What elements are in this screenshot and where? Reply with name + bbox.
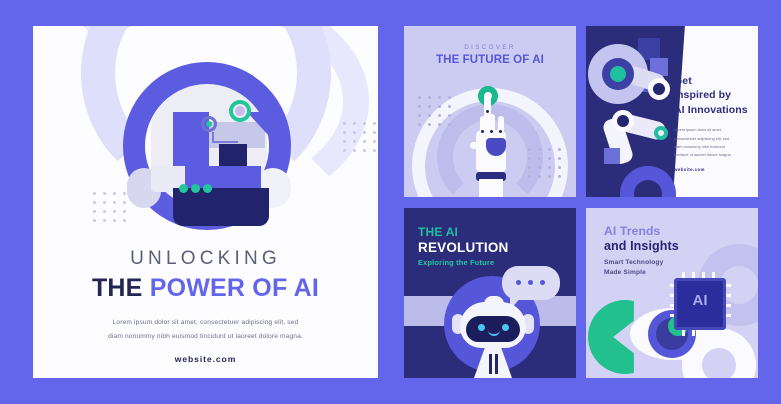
tr-body-line1: Lorem ipsum dolor sit amet, <box>674 126 752 134</box>
br-subtitle-line2: Made Simple <box>604 268 679 278</box>
robot-indicator-dot <box>203 184 212 193</box>
main-eyebrow: UNLOCKING <box>33 248 378 270</box>
tr-text-block: Get Inspired by AI Innovations Lorem ips… <box>674 74 752 172</box>
robot-circuit-line-h <box>212 141 238 143</box>
speech-bubble-dot <box>516 280 521 285</box>
robot-indicator-dot <box>179 184 188 193</box>
robot-arm-joint <box>648 78 670 100</box>
tr-body-line4: tincidunt ut laoreet dolore magna. <box>674 151 752 159</box>
social-media-template-mockup: UNLOCKING THE POWER OF AI Lorem ipsum do… <box>0 0 781 404</box>
chatbot-body-stripe <box>489 354 492 374</box>
speech-bubble-dot <box>540 280 545 285</box>
top-right-post-card[interactable]: Get Inspired by AI Innovations Lorem ips… <box>586 26 758 197</box>
robot-arm-gripper-icon <box>654 126 668 140</box>
tm-eyebrow: DISCOVER <box>404 44 576 51</box>
bm-headline-line1: THE AI <box>418 225 509 239</box>
hand-thumb <box>470 142 482 149</box>
main-headline: THE POWER OF AI <box>33 274 378 303</box>
robot-base <box>173 188 269 226</box>
tr-square-decor <box>604 148 620 164</box>
dot-grid-left <box>93 192 127 222</box>
main-post-card[interactable]: UNLOCKING THE POWER OF AI Lorem ipsum do… <box>33 26 378 378</box>
bottom-middle-post-card[interactable]: THE AI REVOLUTION Exploring the Future <box>404 208 576 378</box>
chip-pin <box>702 329 705 336</box>
main-headline-accent: POWER OF AI <box>150 274 319 302</box>
chatbot-eye-icon <box>502 324 509 331</box>
main-body-line1: Lorem ipsum dolor sit amet, consectetuer… <box>33 316 378 330</box>
br-subtitle: Smart Technology Made Simple <box>604 258 679 278</box>
tr-headline: Get Inspired by AI Innovations <box>674 74 752 117</box>
tm-dot-grid-left <box>418 96 452 126</box>
robot-cheek-triangle <box>247 112 269 136</box>
robot-arm-disc-core <box>610 66 626 82</box>
chip-pin <box>692 329 695 336</box>
chip-pin <box>682 329 685 336</box>
bm-subtitle: Exploring the Future <box>418 258 509 267</box>
bm-headline-line2: REVOLUTION <box>418 240 509 255</box>
main-illustration <box>33 26 378 241</box>
tm-text-block: DISCOVER THE FUTURE OF AI <box>404 44 576 66</box>
hand-joint-dot <box>486 110 489 113</box>
chatbot-visor <box>466 316 520 342</box>
tm-headline: THE FUTURE OF AI <box>404 54 576 66</box>
br-text-block: AI Trends and Insights Smart Technology … <box>604 224 679 278</box>
br-subtitle-line1: Smart Technology <box>604 258 679 268</box>
chip-pin <box>712 329 715 336</box>
robot-eye-small-inner <box>206 121 212 127</box>
main-body-text: Lorem ipsum dolor sit amet, consectetuer… <box>33 316 378 343</box>
tr-website-label[interactable]: website.com <box>674 167 752 172</box>
tr-body-line2: consectetuer adipiscing elit, sed <box>674 135 752 143</box>
bm-text-block: THE AI REVOLUTION Exploring the Future <box>418 225 509 267</box>
hand-joint-dot <box>499 130 502 133</box>
robot-neck <box>219 144 247 166</box>
br-decor-circle-bottom-inner <box>702 348 736 378</box>
main-text-block: UNLOCKING THE POWER OF AI Lorem ipsum do… <box>33 248 378 364</box>
robot-indicator-dot <box>191 184 200 193</box>
chatbot-eye-icon <box>478 324 485 331</box>
bottom-right-post-card[interactable]: AI AI Trends and Insights Smart Technolo… <box>586 208 758 378</box>
main-body-line2: diam nonummy nibh euismod tincidunt ut l… <box>33 330 378 344</box>
hand-joint-dot <box>490 130 493 133</box>
robot-hand-illustration <box>468 86 514 196</box>
ai-chip-label: AI <box>674 292 726 309</box>
robot-arm-joint <box>612 110 634 132</box>
main-headline-dark: THE <box>92 274 150 302</box>
tr-body-line3: diam nonummy nibh euismod <box>674 143 752 151</box>
hand-joint-dot <box>481 130 484 133</box>
tm-dot-grid-right <box>528 148 562 178</box>
br-headline-line2: and Insights <box>604 239 679 253</box>
hand-forearm <box>479 179 503 197</box>
tr-headline-line1: Get <box>674 74 752 88</box>
dot-grid-right <box>343 122 377 152</box>
speech-bubble-dot <box>528 280 533 285</box>
tr-headline-line3: AI Innovations <box>674 103 752 117</box>
tr-body-text: Lorem ipsum dolor sit amet, consectetuer… <box>674 126 752 159</box>
top-middle-post-card[interactable]: DISCOVER THE FUTURE OF AI <box>404 26 576 197</box>
tr-headline-line2: Inspired by <box>674 88 752 102</box>
br-headline-line1: AI Trends <box>604 224 679 238</box>
chatbot-body-stripe <box>495 354 498 374</box>
main-website-label[interactable]: website.com <box>33 354 378 364</box>
robot-eye-large-inner <box>235 106 245 116</box>
